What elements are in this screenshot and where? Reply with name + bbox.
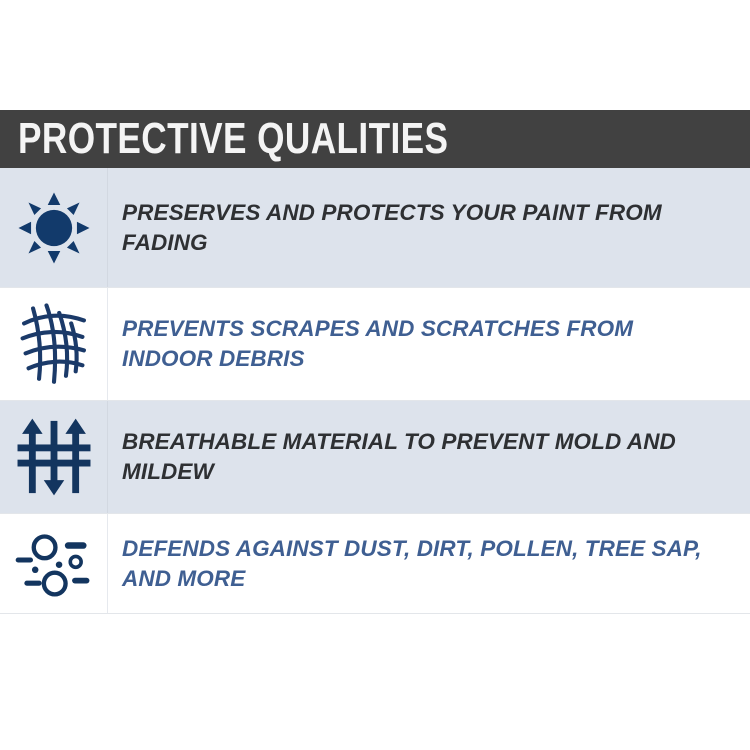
- feature-text-cell: PRESERVES AND PROTECTS YOUR PAINT FROM F…: [108, 168, 750, 287]
- breathable-airflow-icon: [16, 417, 92, 497]
- feature-icon-cell: [0, 288, 108, 400]
- dust-particles-icon: [14, 530, 94, 598]
- mesh-scratch-icon: [16, 301, 92, 387]
- sun-icon: [17, 191, 91, 265]
- feature-text-cell: BREATHABLE MATERIAL TO PREVENT MOLD AND …: [108, 401, 750, 513]
- panel-header: PROTECTIVE QUALITIES: [0, 110, 750, 168]
- feature-icon-cell: [0, 168, 108, 287]
- features-panel: PROTECTIVE QUALITIES: [0, 110, 750, 614]
- feature-text-cell: DEFENDS AGAINST DUST, DIRT, POLLEN, TREE…: [108, 514, 750, 613]
- feature-row-2: PREVENTS SCRAPES AND SCRATCHES FROM INDO…: [0, 288, 750, 401]
- feature-label-3: BREATHABLE MATERIAL TO PREVENT MOLD AND …: [122, 427, 722, 487]
- protective-qualities-infographic: PROTECTIVE QUALITIES: [0, 0, 750, 750]
- feature-row-4: DEFENDS AGAINST DUST, DIRT, POLLEN, TREE…: [0, 514, 750, 614]
- feature-label-1: PRESERVES AND PROTECTS YOUR PAINT FROM F…: [122, 198, 722, 258]
- feature-text-cell: PREVENTS SCRAPES AND SCRATCHES FROM INDO…: [108, 288, 750, 400]
- feature-icon-cell: [0, 401, 108, 513]
- feature-icon-cell: [0, 514, 108, 613]
- feature-label-4: DEFENDS AGAINST DUST, DIRT, POLLEN, TREE…: [122, 534, 722, 594]
- feature-row-1: PRESERVES AND PROTECTS YOUR PAINT FROM F…: [0, 168, 750, 288]
- feature-label-2: PREVENTS SCRAPES AND SCRATCHES FROM INDO…: [122, 314, 722, 374]
- page-title: PROTECTIVE QUALITIES: [18, 117, 448, 161]
- feature-row-3: BREATHABLE MATERIAL TO PREVENT MOLD AND …: [0, 401, 750, 514]
